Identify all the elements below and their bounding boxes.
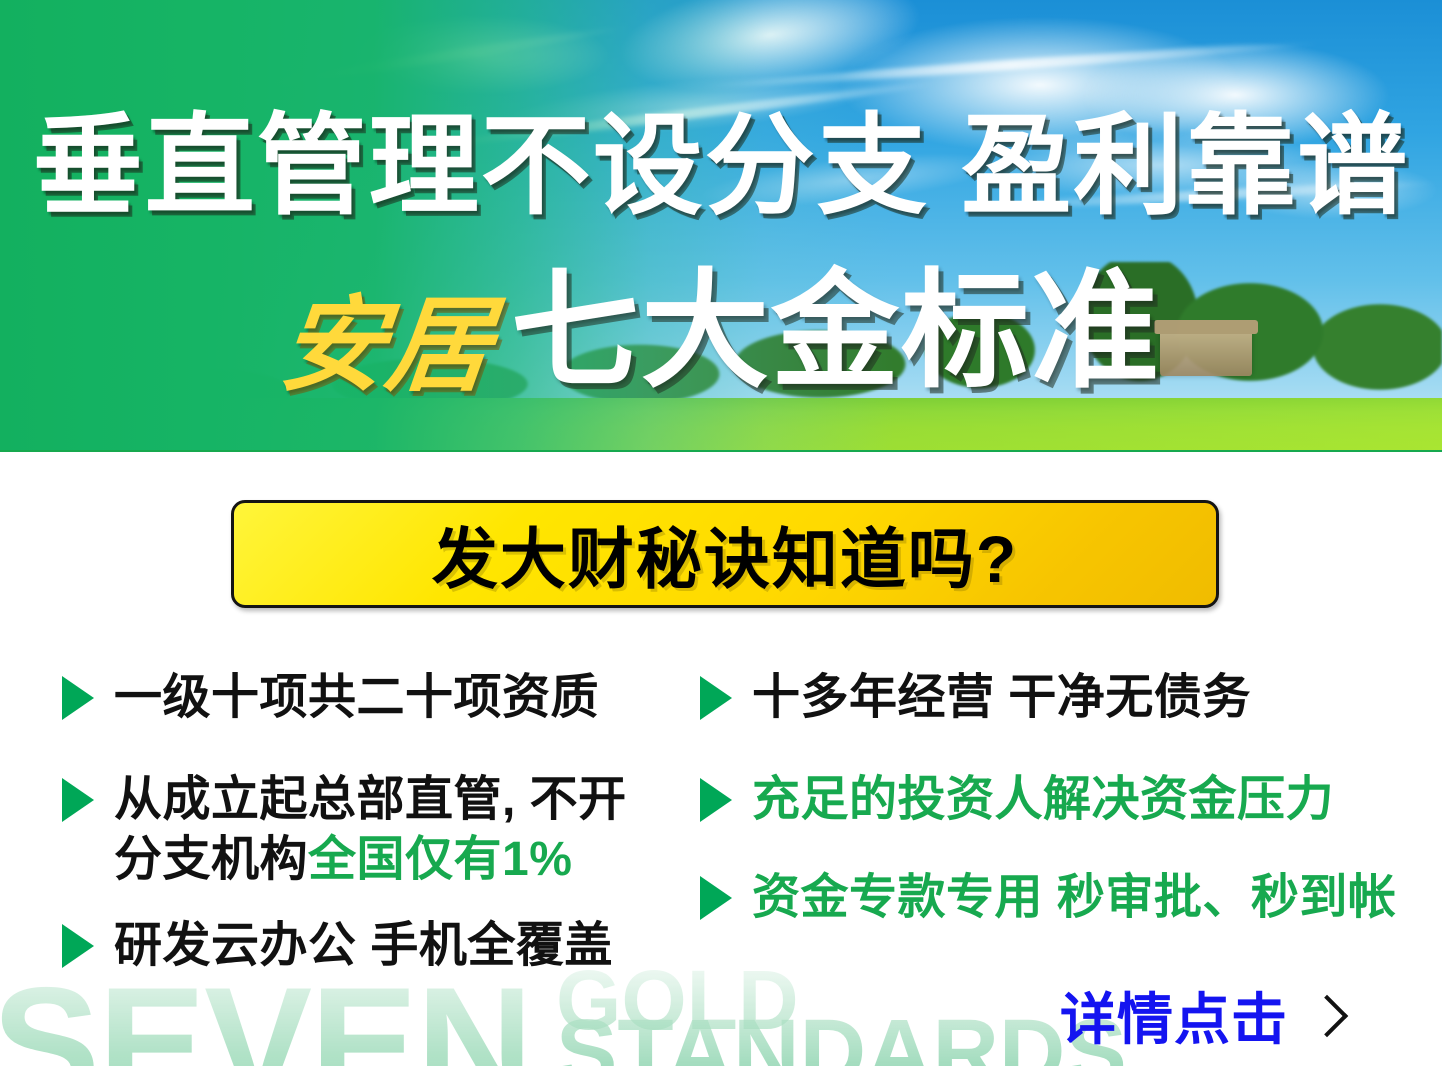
feature-text: 资金专款专用 秒审批、秒到帐 — [752, 868, 1396, 928]
feature-item: 从成立起总部直管, 不开 分支机构全国仅有1% — [62, 770, 682, 890]
green-divider-strip — [0, 450, 1442, 452]
details-cta-link[interactable]: 详情点击 — [1060, 975, 1342, 1056]
hero-subtitle: 安居七大金标准 — [0, 268, 1442, 398]
hero-brand-text: 安居 — [276, 294, 499, 398]
headline-callout-text: 发大财秘诀知道吗? — [432, 506, 1018, 602]
triangle-bullet-icon — [700, 778, 732, 822]
feature-text: 研发云办公 手机全覆盖 — [114, 916, 613, 976]
triangle-bullet-icon — [62, 778, 94, 822]
triangle-bullet-icon — [700, 876, 732, 920]
triangle-bullet-icon — [62, 924, 94, 968]
hero-headline: 垂直管理不设分支 盈利靠谱 — [0, 112, 1442, 222]
feature-item: 研发云办公 手机全覆盖 — [62, 916, 682, 976]
chevron-right-icon — [1306, 994, 1348, 1036]
feature-item: 十多年经营 干净无债务 — [700, 668, 1420, 728]
feature-item: 一级十项共二十项资质 — [62, 668, 682, 728]
feature-item: 资金专款专用 秒审批、秒到帐 — [700, 868, 1420, 928]
feature-text: 从成立起总部直管, 不开 分支机构全国仅有1% — [114, 770, 627, 890]
promotional-banner-page: 垂直管理不设分支 盈利靠谱 安居七大金标准 发大财秘诀知道吗? 一级十项共二十项… — [0, 0, 1442, 1066]
feature-text: 一级十项共二十项资质 — [114, 668, 599, 728]
feature-text-highlight: 全国仅有1% — [308, 833, 572, 886]
triangle-bullet-icon — [62, 676, 94, 720]
feature-column-left: 一级十项共二十项资质 从成立起总部直管, 不开 分支机构全国仅有1% 研发云办公… — [62, 668, 682, 1010]
feature-column-right: 十多年经营 干净无债务 充足的投资人解决资金压力 资金专款专用 秒审批、秒到帐 — [700, 668, 1420, 962]
details-cta-label: 详情点击 — [1060, 975, 1288, 1056]
triangle-bullet-icon — [700, 676, 732, 720]
feature-text-line1: 从成立起总部直管, 不开 — [114, 773, 627, 826]
hero-subtitle-text: 七大金标准 — [511, 268, 1161, 396]
feature-text: 十多年经营 干净无债务 — [752, 668, 1251, 728]
feature-text: 充足的投资人解决资金压力 — [752, 770, 1334, 830]
feature-text-line2: 分支机构 — [114, 833, 308, 886]
feature-item: 充足的投资人解决资金压力 — [700, 770, 1420, 830]
headline-callout-banner[interactable]: 发大财秘诀知道吗? — [231, 500, 1219, 608]
hero-banner: 垂直管理不设分支 盈利靠谱 安居七大金标准 — [0, 0, 1442, 452]
